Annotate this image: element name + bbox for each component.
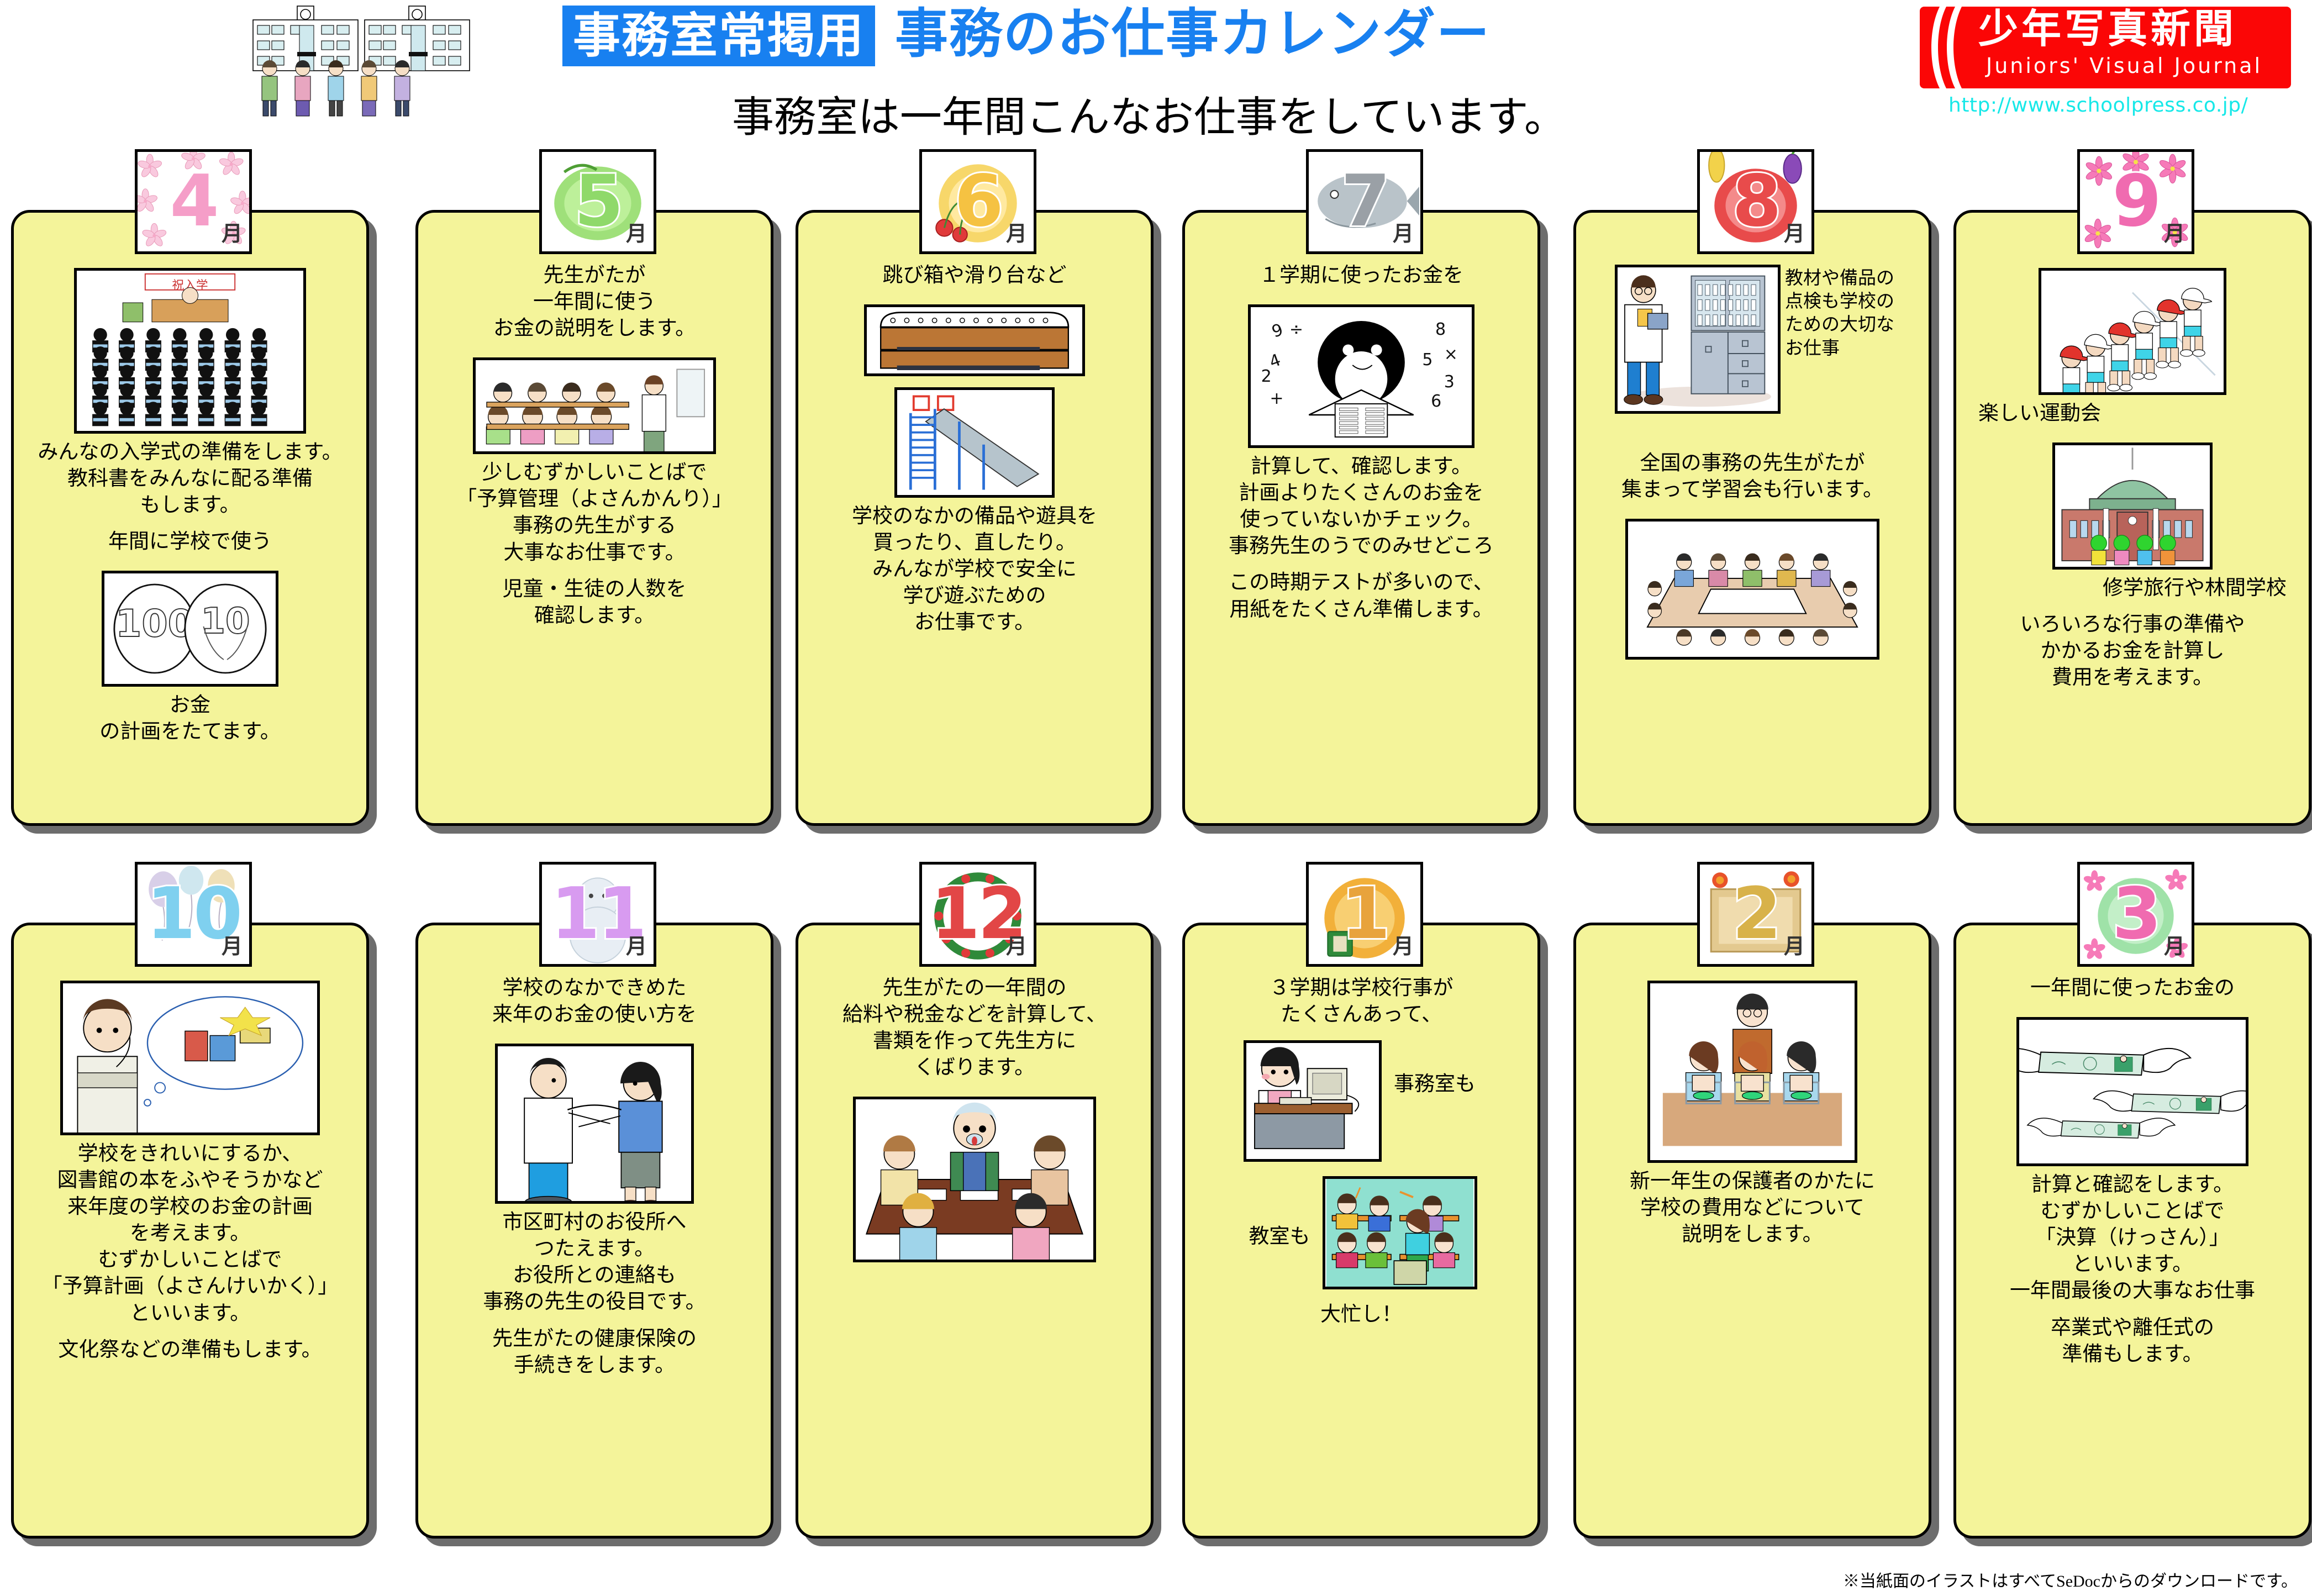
month-number-chip-4: 4月	[135, 149, 252, 254]
vaulting-box-illustration	[864, 304, 1085, 376]
month-text: 学校のなかの備品や遊具を 買ったり、直したり。 みんなが学校で安全に 学び遊ぶた…	[806, 503, 1143, 636]
month-text: 先生がたの健康保険の 手続きをします。	[426, 1326, 763, 1379]
month-card-content: 学校をきれいにするか、 図書館の本をふやそうかなど 来年度の学校のお金の計画 を…	[14, 925, 366, 1536]
month-text: 学校のなかできめた 来年のお金の使い方を	[426, 975, 763, 1028]
month-text: 先生がたの一年間の 給料や税金などを計算して、 書類を作って先生方に くばります…	[806, 975, 1143, 1081]
month-card-body: 学校のなかできめた 来年のお金の使い方を	[415, 923, 773, 1539]
playground-slide-illustration	[894, 387, 1055, 498]
month-number-chip-10: 10月	[135, 862, 252, 967]
month-number-chip-6: 6月	[919, 149, 1036, 254]
publisher-logo[interactable]: 少年写真新聞 Juniors' Visual Journal http://ww…	[1920, 7, 2301, 139]
month-text: この時期テストが多いので、 用紙をたくさん準備します。	[1193, 570, 1530, 623]
month-text: 教材や備品の 点検も学校の ための大切な お仕事	[1785, 262, 1894, 360]
month-card-content: 跳び箱や滑り台など 学校のなかの備品や遊具を 買ったり、直したり。 みんなが学校…	[798, 213, 1151, 823]
month-card-body: 一年間に使ったお金の	[1953, 923, 2311, 1539]
month-card-body: ３学期は学校行事が たくさんあって、 事務室も教室も	[1182, 923, 1540, 1539]
month-card-body: 跳び箱や滑り台など 学校のなかの備品や遊具を 買ったり、直したり。 みんなが学校…	[796, 210, 1154, 826]
month-card-1: ３学期は学校行事が たくさんあって、 事務室も教室も	[1182, 862, 1547, 1555]
month-card-content: 先生がたの一年間の 給料や税金などを計算して、 書類を作って先生方に くばります…	[798, 925, 1151, 1536]
month-card-3: 一年間に使ったお金の	[1953, 862, 2312, 1555]
month-text: 児童・生徒の人数を 確認します。	[426, 576, 763, 629]
flying-money-illustration	[2016, 1017, 2248, 1166]
month-card-11: 学校のなかできめた 来年のお金の使い方を	[415, 862, 780, 1555]
month-suffix: 月	[626, 929, 647, 960]
month-suffix: 月	[2164, 929, 2185, 960]
thinking-about-school-illustration	[60, 981, 320, 1135]
month-card-10: 学校をきれいにするか、 図書館の本をふやそうかなど 来年度の学校のお金の計画 を…	[11, 862, 376, 1555]
classroom-lesson-illustration	[1323, 1176, 1477, 1289]
month-card-body: 先生がたが 一年間に使う お金の説明をします。	[415, 210, 773, 826]
penguin-calculating-illustration: 9 ÷ 4 2 + 8 × 5 3 6	[1248, 304, 1474, 448]
month-suffix: 月	[1784, 217, 1805, 247]
header-badge: 事務室常掲用	[562, 6, 875, 66]
month-number-chip-2: 2月	[1697, 862, 1814, 967]
month-text: 修学旅行や林間学校	[1964, 575, 2301, 602]
year-end-party-illustration	[853, 1097, 1096, 1262]
month-text: ３学期は学校行事が たくさんあって、	[1193, 975, 1530, 1028]
picture-with-caption: 教材や備品の 点検も学校の ための大切な お仕事	[1584, 262, 1921, 416]
month-suffix: 月	[2164, 217, 2185, 247]
month-text: 新一年生の保護者のかたに 学校の費用などについて 説明をします。	[1584, 1168, 1921, 1248]
month-card-body: 学校をきれいにするか、 図書館の本をふやそうかなど 来年度の学校のお金の計画 を…	[11, 923, 369, 1539]
month-text: 楽しい運動会	[1964, 401, 2301, 427]
handing-document-illustration	[495, 1044, 694, 1204]
svg-text:×: ×	[1444, 345, 1458, 364]
month-text: 計算して、確認します。 計画よりたくさんのお金を 使っていないかチェック。 事務…	[1193, 454, 1530, 560]
logo-plate: 少年写真新聞 Juniors' Visual Journal	[1920, 7, 2291, 88]
month-text: 計算と確認をします。 むずかしいことばで 「決算（けっさん）」 といいます。 一…	[1964, 1172, 2301, 1304]
month-card-body: 新一年生の保護者のかたに 学校の費用などについて 説明をします。	[1573, 923, 1931, 1539]
picture-with-caption: 教室も	[1193, 1174, 1530, 1292]
office-worker-pc-illustration	[1244, 1040, 1382, 1162]
month-card-content: 学校のなかできめた 来年のお金の使い方を	[418, 925, 771, 1536]
teachers-meeting-illustration	[473, 357, 716, 454]
school-trip-station-illustration	[2052, 443, 2213, 570]
svg-text:2: 2	[1261, 367, 1272, 386]
svg-text:÷: ÷	[1289, 320, 1303, 339]
footer-note: ※当紙面のイラストはすべてSeDocからのダウンロードです。	[1843, 1567, 2298, 1592]
month-number-chip-9: 9月	[2077, 149, 2194, 254]
poster-header: 事務室常掲用 事務のお仕事カレンダー 事務室は一年間こんなお仕事をしています。 …	[0, 0, 2312, 146]
sports-day-running-illustration	[2039, 268, 2226, 395]
month-text: 学校をきれいにするか、 図書館の本をふやそうかなど 来年度の学校のお金の計画 を…	[22, 1141, 359, 1327]
month-number-chip-12: 12月	[919, 862, 1036, 967]
month-card-content: １学期に使ったお金を 9 ÷ 4 2 + 8 × 5 3 6	[1185, 213, 1537, 823]
month-card-content: 楽しい運動会 修学旅行や林間学校いろいろな行事の準備や かかるお金を計算し 費用…	[1956, 213, 2309, 823]
poster-page: 事務室常掲用 事務のお仕事カレンダー 事務室は一年間こんなお仕事をしています。 …	[0, 0, 2312, 1596]
month-suffix: 月	[1784, 929, 1805, 960]
month-card-5: 先生がたが 一年間に使う お金の説明をします。	[415, 149, 780, 842]
month-suffix: 月	[626, 217, 647, 247]
month-card-body: 先生がたの一年間の 給料や税金などを計算して、 書類を作って先生方に くばります…	[796, 923, 1154, 1539]
month-card-4: 祝入学 みんなの入学式の準備をします。 教科書をみんなに配る準備 もします。年間…	[11, 149, 376, 842]
month-text: 卒業式や離任式の 準備もします。	[1964, 1315, 2301, 1368]
school-building-illustration	[238, 3, 492, 136]
month-card-content: 一年間に使ったお金の	[1956, 925, 2309, 1536]
month-number-chip-7: 7月	[1306, 149, 1423, 254]
month-number-chip-1: 1月	[1306, 862, 1423, 967]
svg-text:3: 3	[1444, 372, 1455, 392]
month-text: 市区町村のお役所へ つたえます。 お役所との連絡も 事務の先生の役目です。	[426, 1209, 763, 1315]
svg-text:100: 100	[115, 602, 194, 646]
month-card-body: 楽しい運動会 修学旅行や林間学校いろいろな行事の準備や かかるお金を計算し 費用…	[1953, 210, 2311, 826]
month-text: 全国の事務の先生がたが 集まって学習会も行います。	[1584, 450, 1921, 503]
month-text: 大忙し！	[1193, 1302, 1530, 1328]
month-text: 教室も	[1241, 1174, 1318, 1250]
month-text: 年間に学校で使う	[22, 529, 359, 555]
month-card-body: 教材や備品の 点検も学校の ための大切な お仕事全国の事務の先生がたが 集まって…	[1573, 210, 1931, 826]
svg-text:5: 5	[1422, 350, 1433, 370]
month-number-chip-5: 5月	[539, 149, 656, 254]
month-number-chip-3: 3月	[2077, 862, 2194, 967]
month-suffix: 月	[1006, 929, 1027, 960]
month-card-2: 新一年生の保護者のかたに 学校の費用などについて 説明をします。 2月	[1573, 862, 1938, 1555]
month-row-second-half: 学校をきれいにするか、 図書館の本をふやそうかなど 来年度の学校のお金の計画 を…	[0, 862, 2312, 1555]
month-card-body: １学期に使ったお金を 9 ÷ 4 2 + 8 × 5 3 6	[1182, 210, 1540, 826]
month-card-9: 楽しい運動会 修学旅行や林間学校いろいろな行事の準備や かかるお金を計算し 費用…	[1953, 149, 2312, 842]
svg-text:6: 6	[1431, 392, 1441, 411]
month-number-chip-11: 11月	[539, 862, 656, 967]
month-row-first-half: 祝入学 みんなの入学式の準備をします。 教科書をみんなに配る準備 もします。年間…	[0, 149, 2312, 842]
month-card-8: 教材や備品の 点検も学校の ための大切な お仕事全国の事務の先生がたが 集まって…	[1573, 149, 1938, 842]
month-suffix: 月	[222, 217, 243, 247]
study-meeting-illustration	[1625, 519, 1879, 660]
logo-swoosh-icon	[1927, 7, 1975, 88]
month-text: 一年間に使ったお金の	[1964, 975, 2301, 1002]
coins-illustration: 100 10	[102, 571, 278, 687]
logo-url[interactable]: http://www.schoolpress.co.jp/	[1948, 94, 2248, 117]
page-title: 事務のお仕事カレンダー	[895, 3, 1491, 64]
month-text: 先生がたが 一年間に使う お金の説明をします。	[426, 262, 763, 342]
month-card-content: 祝入学 みんなの入学式の準備をします。 教科書をみんなに配る準備 もします。年間…	[14, 213, 366, 823]
month-suffix: 月	[1393, 217, 1414, 247]
month-card-6: 跳び箱や滑り台など 学校のなかの備品や遊具を 買ったり、直したり。 みんなが学校…	[796, 149, 1160, 842]
month-text: 事務室も	[1386, 1038, 1483, 1097]
month-text: 跳び箱や滑り台など	[806, 262, 1143, 289]
svg-text:+: +	[1270, 389, 1283, 408]
month-suffix: 月	[1393, 929, 1414, 960]
month-card-content: ３学期は学校行事が たくさんあって、 事務室も教室も	[1185, 925, 1537, 1536]
month-card-grid: 祝入学 みんなの入学式の準備をします。 教科書をみんなに配る準備 もします。年間…	[0, 149, 2312, 1563]
month-suffix: 月	[1006, 217, 1027, 247]
month-card-content: 先生がたが 一年間に使う お金の説明をします。	[418, 213, 771, 823]
month-text: いろいろな行事の準備や かかるお金を計算し 費用を考えます。	[1964, 612, 2301, 691]
entrance-ceremony-illustration: 祝入学	[74, 268, 306, 434]
month-card-content: 教材や備品の 点検も学校の ための大切な お仕事全国の事務の先生がたが 集まって…	[1576, 213, 1929, 823]
svg-text:8: 8	[1435, 320, 1446, 339]
svg-text:10: 10	[201, 601, 250, 642]
month-card-body: 祝入学 みんなの入学式の準備をします。 教科書をみんなに配る準備 もします。年間…	[11, 210, 369, 826]
month-card-7: １学期に使ったお金を 9 ÷ 4 2 + 8 × 5 3 6	[1182, 149, 1547, 842]
logo-jp-name: 少年写真新聞	[1978, 9, 2237, 49]
month-text: お金 の計画をたてます。	[22, 692, 359, 745]
parents-briefing-illustration	[1647, 981, 1857, 1163]
logo-en-name: Juniors' Visual Journal	[1986, 55, 2262, 76]
header-badge-label: 事務室常掲用	[573, 12, 865, 60]
picture-with-caption: 事務室も	[1193, 1038, 1530, 1164]
equipment-cabinet-illustration	[1615, 265, 1781, 414]
month-number-chip-8: 8月	[1697, 149, 1814, 254]
month-suffix: 月	[222, 929, 243, 960]
month-text: １学期に使ったお金を	[1193, 262, 1530, 289]
month-card-content: 新一年生の保護者のかたに 学校の費用などについて 説明をします。	[1576, 925, 1929, 1536]
page-subtitle: 事務室は一年間こんなお仕事をしています。	[624, 83, 1674, 144]
month-text: 少しむずかしいことばで 「予算管理（よさんかんり）」 事務の先生がする 大事なお…	[426, 460, 763, 566]
month-text: 文化祭などの準備もします。	[22, 1337, 359, 1363]
month-text: みんなの入学式の準備をします。 教科書をみんなに配る準備 もします。	[22, 439, 359, 519]
month-card-12: 先生がたの一年間の 給料や税金などを計算して、 書類を作って先生方に くばります…	[796, 862, 1160, 1555]
